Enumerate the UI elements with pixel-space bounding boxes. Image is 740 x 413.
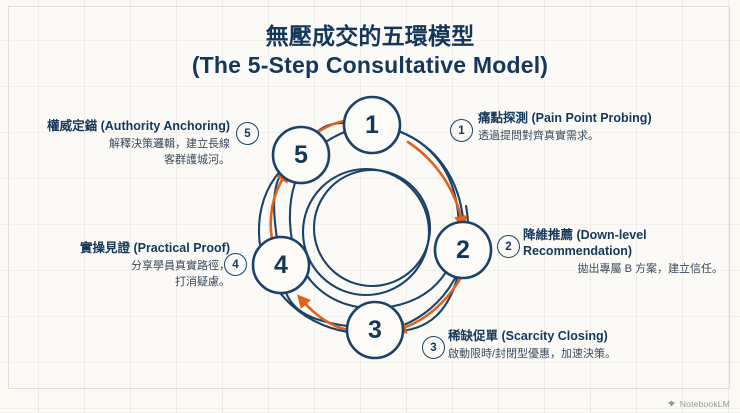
cycle-node-label: 5 (294, 141, 308, 169)
step-desc-5: 解釋決策邏輯，建立長線 客群護城河。 (45, 137, 230, 169)
step-callout-2[interactable]: 降維推薦 (Down-level Recommendation) 拋出專屬 B … (523, 227, 723, 278)
notebooklm-label: NotebookLM (680, 399, 730, 409)
step-desc-3: 啟動限時/封閉型優惠，加速決策。 (448, 347, 678, 363)
notebooklm-watermark: NotebookLM (667, 399, 730, 409)
cycle-node-3[interactable]: 3 (347, 302, 403, 358)
cycle-node-5[interactable]: 5 (273, 127, 329, 183)
step-badge-1: 1 (450, 119, 473, 142)
cycle-node-2[interactable]: 2 (435, 222, 491, 278)
step-desc-2: 拋出專屬 B 方案，建立信任。 (523, 262, 723, 278)
cycle-node-label: 1 (365, 111, 379, 139)
notebooklm-icon (667, 400, 676, 409)
arrow-4-to-5 (271, 175, 285, 240)
step-callout-1[interactable]: 痛點探測 (Pain Point Probing) 透過提問對齊真實需求。 (478, 110, 658, 145)
step-callout-5[interactable]: 權威定錨 (Authority Anchoring) 解釋決策邏輯，建立長線 客… (45, 118, 230, 169)
step-badge-3: 3 (422, 336, 445, 359)
cycle-node-label: 4 (274, 251, 288, 279)
step-desc-4: 分享學員真實路徑， 打消疑慮。 (58, 259, 230, 291)
step-callout-3[interactable]: 稀缺促單 (Scarcity Closing) 啟動限時/封閉型優惠，加速決策。 (448, 328, 678, 363)
cycle-node-label: 3 (368, 316, 382, 344)
cycle-node-1[interactable]: 1 (344, 97, 400, 153)
step-title-1: 痛點探測 (Pain Point Probing) (478, 110, 658, 126)
step-badge-5: 5 (236, 122, 259, 145)
page-title: 無壓成交的五環模型 (The 5-Step Consultative Model… (0, 22, 740, 80)
step-desc-1: 透過提問對齊真實需求。 (478, 129, 658, 145)
step-title-5: 權威定錨 (Authority Anchoring) (45, 118, 230, 134)
page-title-en: (The 5-Step Consultative Model) (0, 51, 740, 80)
cycle-node-label: 2 (456, 236, 470, 264)
step-title-2: 降維推薦 (Down-level Recommendation) (523, 227, 723, 259)
cycle-node-4[interactable]: 4 (253, 237, 309, 293)
step-callout-4[interactable]: 實操見證 (Practical Proof) 分享學員真實路徑， 打消疑慮。 (58, 240, 230, 291)
page-title-zh: 無壓成交的五環模型 (0, 22, 740, 51)
step-title-4: 實操見證 (Practical Proof) (58, 240, 230, 256)
step-badge-2: 2 (497, 235, 520, 258)
step-title-3: 稀缺促單 (Scarcity Closing) (448, 328, 678, 344)
